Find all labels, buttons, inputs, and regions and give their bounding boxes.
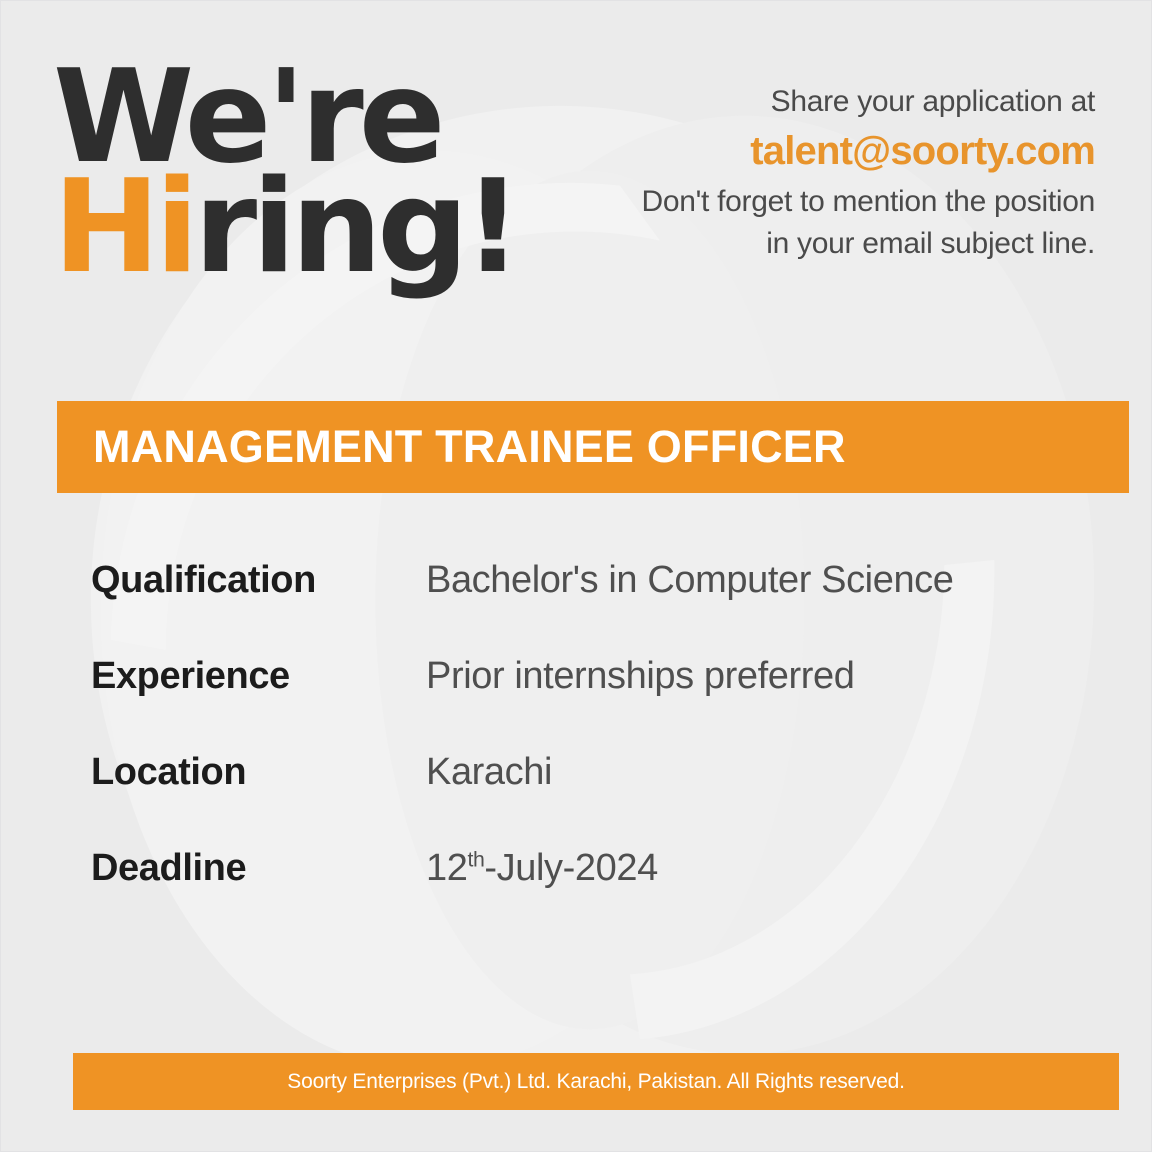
footer-copyright-text: Soorty Enterprises (Pvt.) Ltd. Karachi, … [287, 1070, 904, 1094]
job-title-banner: MANAGEMENT TRAINEE OFFICER [57, 401, 1129, 493]
detail-value: Bachelor's in Computer Science [426, 559, 954, 602]
page-title: We're Hiring! [53, 63, 517, 283]
detail-row-qualification: Qualification Bachelor's in Computer Sci… [91, 559, 1091, 655]
detail-row-location: Location Karachi [91, 751, 1091, 847]
detail-value: Prior internships preferred [426, 655, 855, 698]
deadline-day: 12 [426, 847, 467, 889]
email-link[interactable]: talent@soorty.com [535, 124, 1095, 178]
contact-note-line-one: Don't forget to mention the position [535, 181, 1095, 222]
headline-line-two: Hiring! [53, 173, 517, 283]
job-title-text: MANAGEMENT TRAINEE OFFICER [57, 421, 846, 473]
detail-label: Deadline [91, 847, 426, 890]
contact-note-line-two: in your email subject line. [535, 223, 1095, 264]
contact-intro: Share your application at [535, 81, 1095, 122]
detail-value: Karachi [426, 751, 552, 794]
detail-row-deadline: Deadline 12th-July-2024 [91, 847, 1091, 943]
deadline-month-year: -July-2024 [484, 847, 657, 889]
footer-bar: Soorty Enterprises (Pvt.) Ltd. Karachi, … [73, 1053, 1119, 1110]
contact-block: Share your application at talent@soorty.… [535, 81, 1095, 264]
detail-label: Experience [91, 655, 426, 698]
detail-label: Location [91, 751, 426, 794]
detail-row-experience: Experience Prior internships preferred [91, 655, 1091, 751]
detail-label: Qualification [91, 559, 426, 602]
headline-remainder: ring! [194, 153, 517, 302]
deadline-ordinal: th [467, 847, 484, 871]
headline-accent: Hi [53, 153, 194, 302]
job-details-list: Qualification Bachelor's in Computer Sci… [91, 559, 1091, 943]
detail-value: 12th-July-2024 [426, 847, 658, 890]
hiring-poster: We're Hiring! Share your application at … [0, 0, 1152, 1152]
